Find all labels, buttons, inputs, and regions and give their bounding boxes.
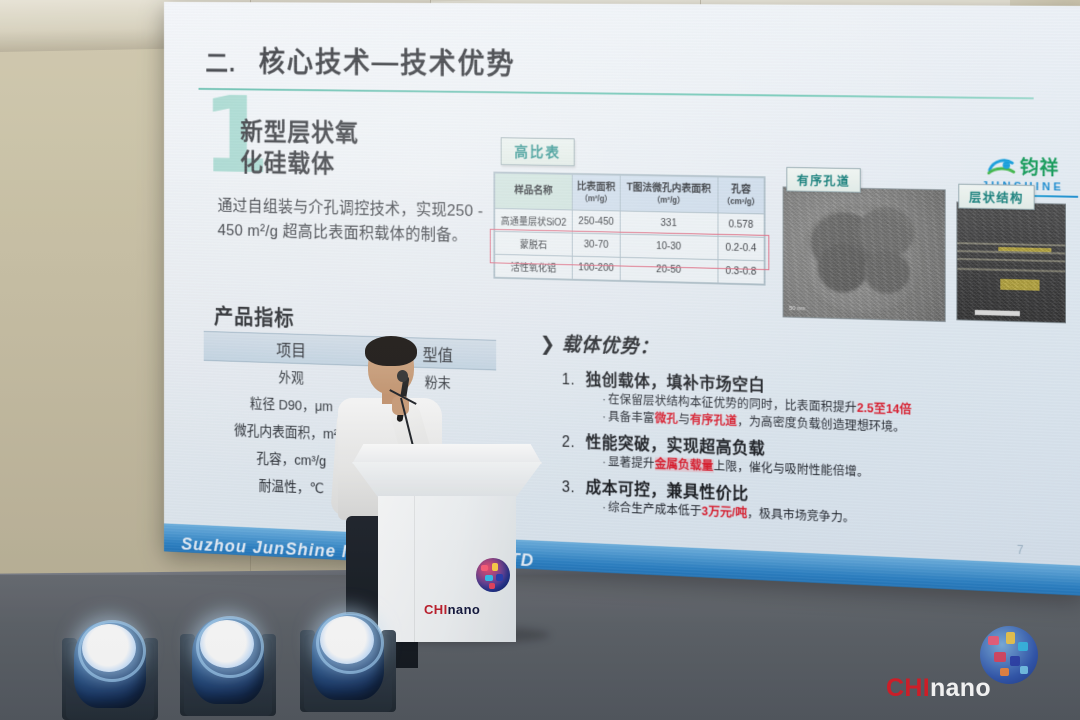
list-item: 1.独创载体，填补市场空白 ·在保留层状结构本征优势的同时，比表面积提升2.5至… [562,365,968,439]
podium-top [352,444,542,464]
advantages-list: 1.独创载体，填补市场空白 ·在保留层状结构本征优势的同时，比表面积提升2.5至… [562,365,968,536]
bullet-dot-icon: · [602,501,606,515]
cell-sample-name: 蒙脱石 [495,231,573,256]
podium-logo-nano: nano [448,602,481,617]
title-divider [199,88,1034,99]
micrograph-label-layered-structure: 层状结构 [958,184,1034,210]
bullet-dot-icon: · [602,392,606,406]
feature-paragraph: 通过自组装与介孔调控技术，实现250 - 450 m²/g 超高比表面积载体的制… [218,194,493,248]
stage-light [62,616,158,720]
micrograph-label-ordered-pores: 有序孔道 [786,167,860,193]
col-micropore-area: T图法微孔内表面积 （m²/g） [620,175,718,212]
feature-heading: 新型层状氧 化硅载体 [240,117,462,183]
cell-sample-name: 高通量层状SiO2 [495,208,573,233]
micrograph-layered-structure [956,201,1066,323]
cell-ssa: 250-450 [572,210,620,234]
col-pore-volume: 孔容 （cm³/g） [718,177,764,214]
watermark-nano: nano [930,674,991,702]
high-ssa-badge: 高比表 [501,137,575,166]
podium-chinano-logo: CHInano [424,602,480,617]
projection-screen: 二. 核心技术—技术优势 1 新型层状氧 化硅载体 通过自组装与介孔调控技术，实… [88,6,1080,606]
product-spec-heading: 产品指标 [214,299,294,331]
junshine-logo-cn: 钧祥 [1020,153,1059,181]
cell-pore: 0.3-0.8 [718,259,764,284]
scale-bar-label: 50 nm [789,306,805,312]
watermark-chi: CHI [886,674,930,702]
speaker-hair [365,336,417,366]
bullet-dot-icon: · [602,410,606,424]
junshine-mark-icon [987,153,1016,179]
cell-ssa: 30-70 [572,233,620,257]
microphone-head [397,370,408,382]
stage-lights [62,612,422,720]
cell-sample-name: 活性氧化铝 [495,254,573,279]
chevron-right-icon: ❯ [540,334,556,356]
chinano-ball-icon [476,558,510,592]
chinano-watermark-text: CHInano [886,674,991,703]
photo-scene: 二. 核心技术—技术优势 1 新型层状氧 化硅载体 通过自组装与介孔调控技术，实… [0,0,1080,720]
cell-micro: 20-50 [620,257,718,283]
cell-micro: 331 [620,211,718,236]
advantages-heading: ❯ 载体优势： [540,328,659,360]
stage-light [180,612,276,716]
table-header-row: 样品名称 比表面积 （m²/g） T图法微孔内表面积 （m²/g） [495,173,764,214]
chinano-watermark: CHInano [884,626,1074,712]
micrograph-ordered-pores: 50 nm [783,186,946,322]
col-specific-surface-area: 比表面积 （m²/g） [572,174,620,210]
stage-light [300,608,396,712]
cell-ssa: 100-200 [572,256,620,280]
cell-pore: 0.578 [718,213,764,237]
col-sample-name: 样品名称 [495,173,573,210]
podium-logo-chi: CHI [424,602,448,617]
section-title: 核心技术—技术优势 [259,38,516,82]
cell-pore: 0.2-0.4 [718,236,764,260]
page-number: 7 [1017,543,1024,557]
bullet-dot-icon: · [602,455,606,469]
podium-slope [352,462,542,498]
comparison-table: 样品名称 比表面积 （m²/g） T图法微孔内表面积 （m²/g） [493,172,765,286]
section-number: 二. [205,44,236,79]
cell-micro: 10-30 [620,234,718,260]
